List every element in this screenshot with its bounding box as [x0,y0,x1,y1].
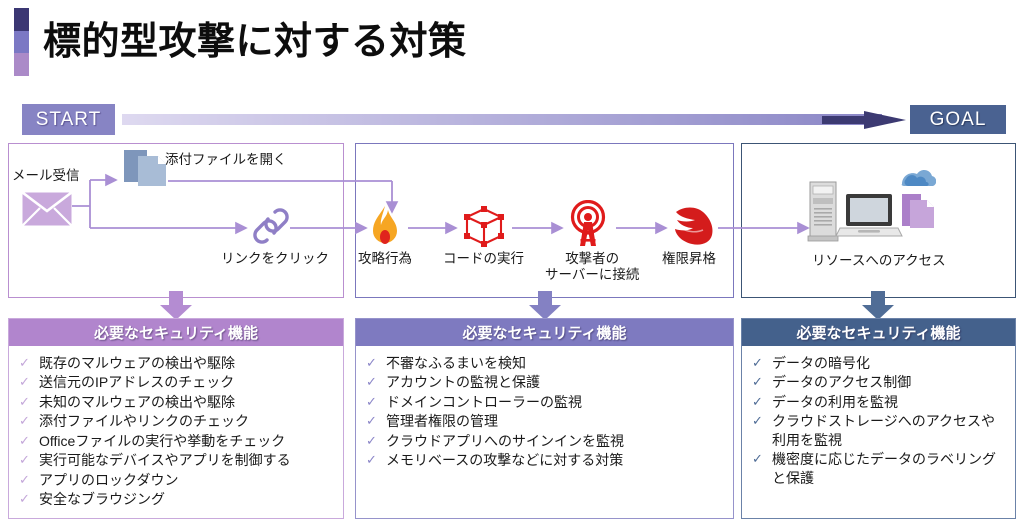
list-item: ✓機密度に応じたデータのラベリングと保護 [752,450,1009,487]
security-card-3-list: ✓データの暗号化✓データのアクセス制御✓データの利用を監視✓クラウドストレージへ… [742,346,1015,487]
security-card-1-list: ✓既存のマルウェアの検出や駆除✓送信元のIPアドレスのチェック✓未知のマルウェア… [9,346,343,509]
list-item: ✓安全なブラウジング [19,490,337,508]
list-item-label: 安全なブラウジング [39,490,337,508]
flow-label-email: メール受信 [12,168,80,184]
list-item: ✓データのアクセス制御 [752,373,1009,391]
check-icon: ✓ [366,432,386,449]
flow-label-privilege-escalation: 権限昇格 [662,251,716,267]
check-icon: ✓ [366,451,386,468]
list-item: ✓添付ファイルやリンクのチェック [19,412,337,430]
list-item: ✓メモリベースの攻撃などに対する対策 [366,451,727,469]
list-item-label: メモリベースの攻撃などに対する対策 [386,451,727,469]
title-block: 標的型攻撃に対する対策 [14,8,467,76]
envelope-icon [22,192,72,226]
flow-label-click-link: リンクをクリック [221,251,329,267]
flow-label-connect-line1: 攻撃者の [545,251,639,267]
security-card-3-header: 必要なセキュリティ機能 [742,319,1015,346]
security-card-2-header: 必要なセキュリティ機能 [356,319,733,346]
check-icon: ✓ [366,373,386,390]
list-item-label: データのアクセス制御 [772,373,1009,391]
check-icon: ✓ [19,432,39,449]
server-laptop-cloud-icon [806,168,936,250]
check-icon: ✓ [19,373,39,390]
flow-label-open-attachment: 添付ファイルを開く [165,152,287,168]
check-icon: ✓ [366,354,386,371]
security-card-2-list: ✓不審なふるまいを検知✓アカウントの監視と保護✓ドメインコントローラーの監視✓管… [356,346,733,470]
list-item-label: 添付ファイルやリンクのチェック [39,412,337,430]
check-icon: ✓ [19,490,39,507]
flexed-bicep-icon [670,203,718,247]
list-item-label: クラウドストレージへのアクセスや利用を監視 [772,412,1009,449]
accent-bar [14,8,29,76]
security-card-email: 必要なセキュリティ機能 ✓既存のマルウェアの検出や駆除✓送信元のIPアドレスのチ… [8,318,344,519]
check-icon: ✓ [19,412,39,429]
security-card-attack: 必要なセキュリティ機能 ✓不審なふるまいを検知✓アカウントの監視と保護✓ドメイン… [355,318,734,519]
flow-label-connect-attacker-server: 攻撃者の サーバーに接続 [545,251,639,284]
check-icon: ✓ [752,412,772,429]
list-item-label: 実行可能なデバイスやアプリを制御する [39,451,337,469]
check-icon: ✓ [19,471,39,488]
flow-label-exploit: 攻略行為 [358,251,412,267]
goal-badge: GOAL [908,103,1008,136]
list-item: ✓管理者権限の管理 [366,412,727,430]
list-item-label: ドメインコントローラーの監視 [386,393,727,411]
link-chain-icon [252,206,290,246]
accent-segment-3 [14,53,29,76]
flow-label-connect-line2: サーバーに接続 [545,267,639,283]
flow-label-resource-access: リソースへのアクセス [812,253,946,269]
list-item: ✓アプリのロックダウン [19,471,337,489]
start-badge: START [22,104,115,135]
list-item: ✓既存のマルウェアの検出や駆除 [19,354,337,372]
list-item: ✓データの暗号化 [752,354,1009,372]
list-item: ✓未知のマルウェアの検出や駆除 [19,393,337,411]
list-item-label: 管理者権限の管理 [386,412,727,430]
list-item-label: 未知のマルウェアの検出や駆除 [39,393,337,411]
down-arrow-2 [528,291,562,321]
list-item: ✓ドメインコントローラーの監視 [366,393,727,411]
list-item: ✓データの利用を監視 [752,393,1009,411]
check-icon: ✓ [366,393,386,410]
security-card-1-header: 必要なセキュリティ機能 [9,319,343,346]
antenna-tower-icon [563,200,613,248]
list-item-label: 既存のマルウェアの検出や駆除 [39,354,337,372]
list-item: ✓実行可能なデバイスやアプリを制御する [19,451,337,469]
list-item: ✓クラウドストレージへのアクセスや利用を監視 [752,412,1009,449]
list-item-label: データの暗号化 [772,354,1009,372]
list-item-label: 送信元のIPアドレスのチェック [39,373,337,391]
list-item: ✓アカウントの監視と保護 [366,373,727,391]
check-icon: ✓ [752,393,772,410]
list-item: ✓不審なふるまいを検知 [366,354,727,372]
list-item: ✓送信元のIPアドレスのチェック [19,373,337,391]
check-icon: ✓ [19,451,39,468]
accent-segment-1 [14,8,29,31]
check-icon: ✓ [752,450,772,467]
flow-label-code-execution: コードの実行 [443,251,524,267]
list-item-label: クラウドアプリへのサインインを監視 [386,432,727,450]
check-icon: ✓ [752,373,772,390]
list-item-label: Officeファイルの実行や挙動をチェック [39,432,337,450]
check-icon: ✓ [366,412,386,429]
security-card-resources: 必要なセキュリティ機能 ✓データの暗号化✓データのアクセス制御✓データの利用を監… [741,318,1016,519]
progress-arrow [122,111,906,129]
list-item: ✓クラウドアプリへのサインインを監視 [366,432,727,450]
list-item-label: アプリのロックダウン [39,471,337,489]
check-icon: ✓ [752,354,772,371]
list-item-label: データの利用を監視 [772,393,1009,411]
check-icon: ✓ [19,393,39,410]
check-icon: ✓ [19,354,39,371]
documents-icon [124,148,168,190]
list-item: ✓Officeファイルの実行や挙動をチェック [19,432,337,450]
accent-segment-2 [14,31,29,54]
down-arrow-3 [861,291,895,321]
list-item-label: アカウントの監視と保護 [386,373,727,391]
down-arrow-1 [159,291,193,321]
flame-icon [370,205,400,247]
page-title: 標的型攻撃に対する対策 [43,23,467,61]
list-item-label: 不審なふるまいを検知 [386,354,727,372]
code-cube-icon [460,204,508,248]
list-item-label: 機密度に応じたデータのラベリングと保護 [772,450,1009,487]
